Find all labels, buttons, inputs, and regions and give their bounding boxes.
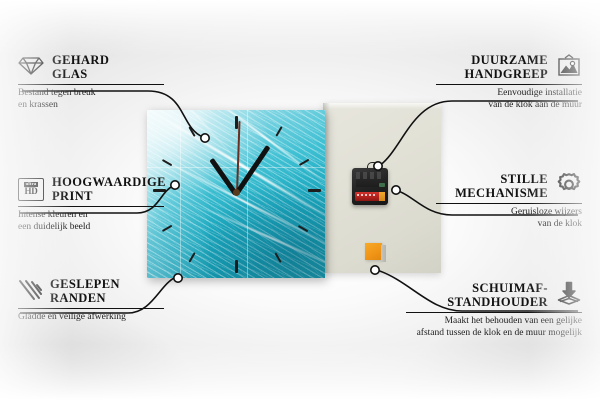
panel-top-highlight [323,103,441,109]
hour-tick-3 [308,189,321,192]
foam-spacer-side [381,245,386,262]
diamond-icon [18,55,44,79]
feature-divider [406,312,582,313]
feature-divider [18,308,164,309]
ultra-hd-large-label: HD [24,187,37,196]
foam-spacer-pad [365,243,382,260]
ultra-hd-icon: ultra HD [18,178,44,201]
feature-divider [436,84,582,85]
feature-description: Maakt het behouden van een gelijke afsta… [406,316,582,339]
feature-durable-hanger: DUURZAME HANDGREEP Eenvoudige installati… [436,53,582,111]
mechanism-chip [379,183,385,187]
battery-label-stripes [357,194,377,196]
infographic-canvas: GEHARD GLAS Bestand tegen breuk en krass… [0,0,600,400]
feature-title: SCHUIMAF- STANDHOUDER [447,281,548,309]
feature-divider [18,84,164,85]
hands-center-cap [233,189,240,196]
feature-polished-edges: GESLEPEN RANDEN Gladde en veilige afwerk… [18,277,164,324]
feature-description: Geruisloze wijzers van de klok [436,207,582,230]
gear-icon [556,172,582,200]
clock-mechanism [352,168,388,205]
battery [355,192,385,201]
feature-title: HOOGWAARDIGE PRINT [52,175,166,203]
glass-pane-line [247,110,248,278]
feature-title: STILLE MECHANISME [455,172,548,200]
feature-description: Intense kleuren en een duidelijk beeld [18,210,164,233]
feature-description: Eenvoudige installatie van de klok aan d… [436,88,582,111]
feature-description: Gladde en veilige afwerking [18,312,164,324]
battery-positive-tip [379,192,385,201]
glass-wall-clock-front [147,110,325,278]
feature-foam-spacer: SCHUIMAF- STANDHOUDER Maakt het behouden… [406,281,582,339]
feature-title: GESLEPEN RANDEN [50,277,120,305]
press-stamp-icon [556,281,582,309]
feature-tempered-glass: GEHARD GLAS Bestand tegen breuk en krass… [18,53,164,111]
feature-title: GEHARD GLAS [52,53,109,81]
glass-pane-line [180,110,181,278]
hour-tick-6 [235,260,238,273]
feature-divider [436,203,582,204]
bevel-lines-icon [18,279,42,304]
picture-frame-icon [556,54,582,80]
feature-title: DUURZAME HANDGREEP [465,53,548,81]
feature-divider [18,206,164,207]
feature-hq-print: ultra HD HOOGWAARDIGE PRINT Intense kleu… [18,175,164,233]
feature-silent-mechanism: STILLE MECHANISME Geruisloze wijzers van… [436,172,582,230]
feature-description: Bestand tegen breuk en krassen [18,88,164,111]
